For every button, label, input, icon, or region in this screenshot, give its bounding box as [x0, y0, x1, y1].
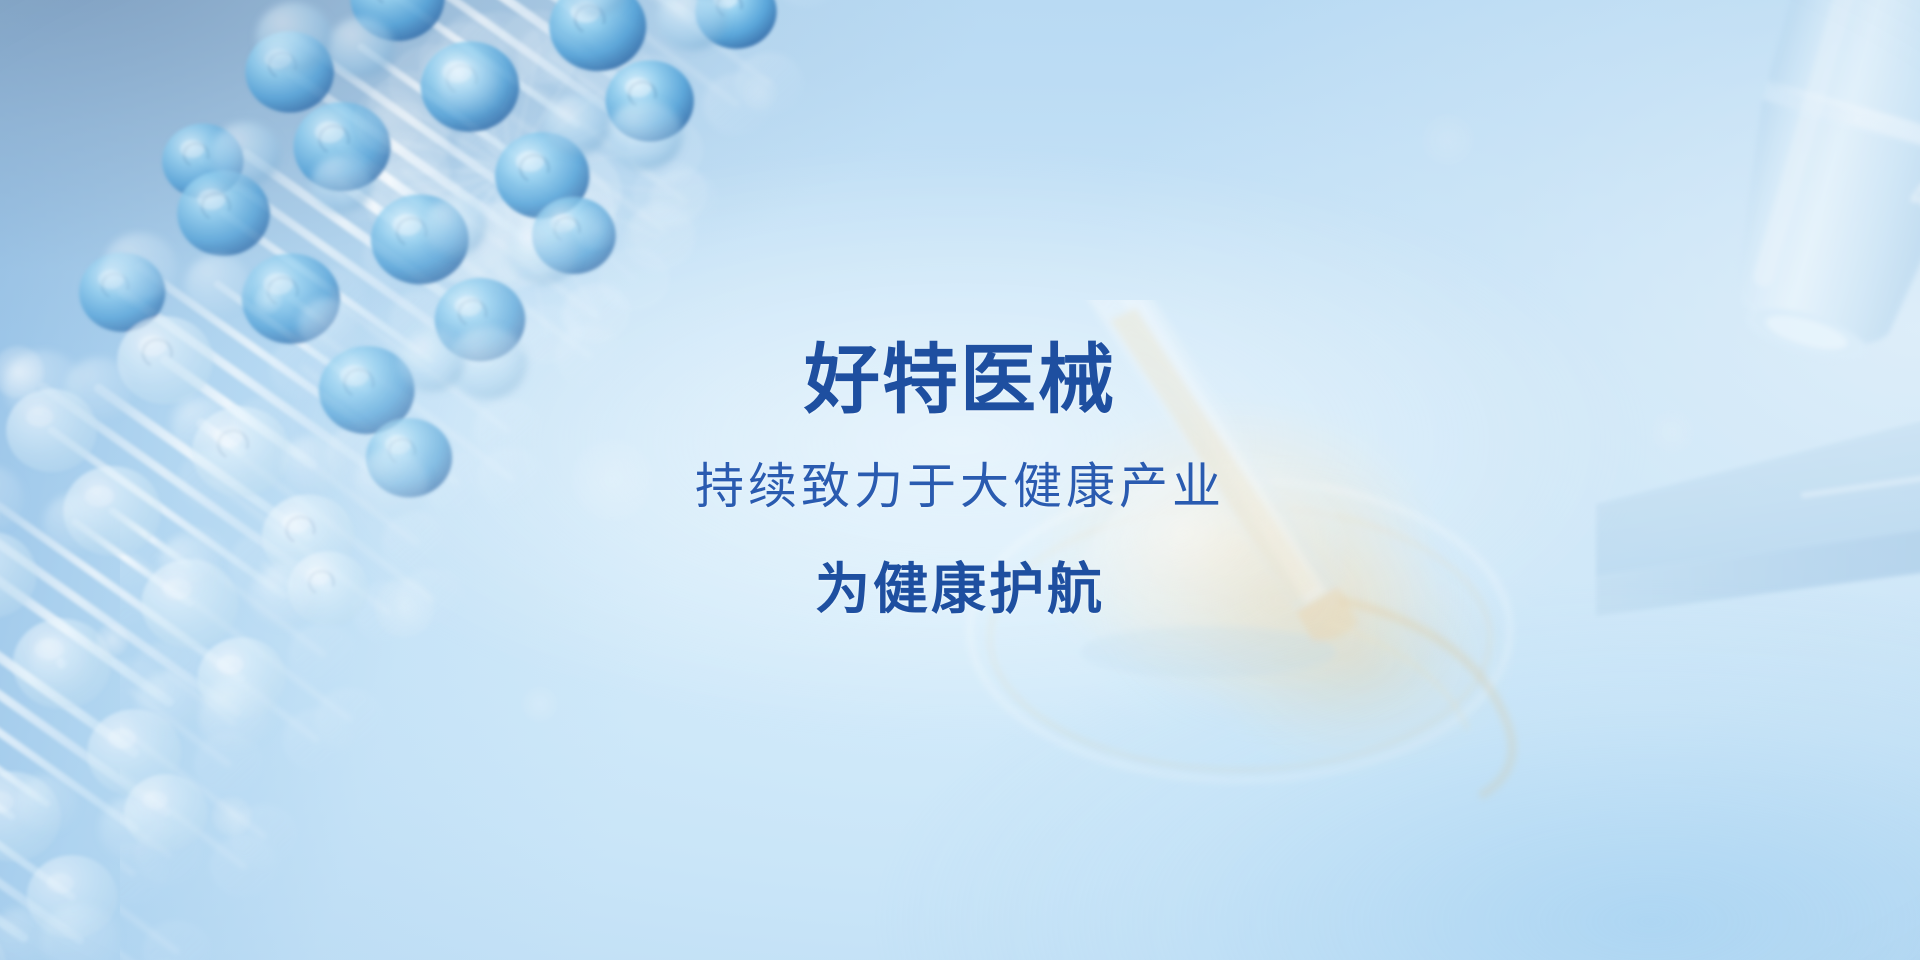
banner-tagline-secondary: 为健康护航 [815, 562, 1105, 617]
hero-banner: 40 [0, 0, 1920, 960]
banner-tagline-primary: 持续致力于大健康产业 [695, 463, 1225, 512]
banner-headline: 好特医械 [804, 343, 1116, 419]
banner-text-block: 好特医械 持续致力于大健康产业 为健康护航 [0, 0, 1920, 960]
